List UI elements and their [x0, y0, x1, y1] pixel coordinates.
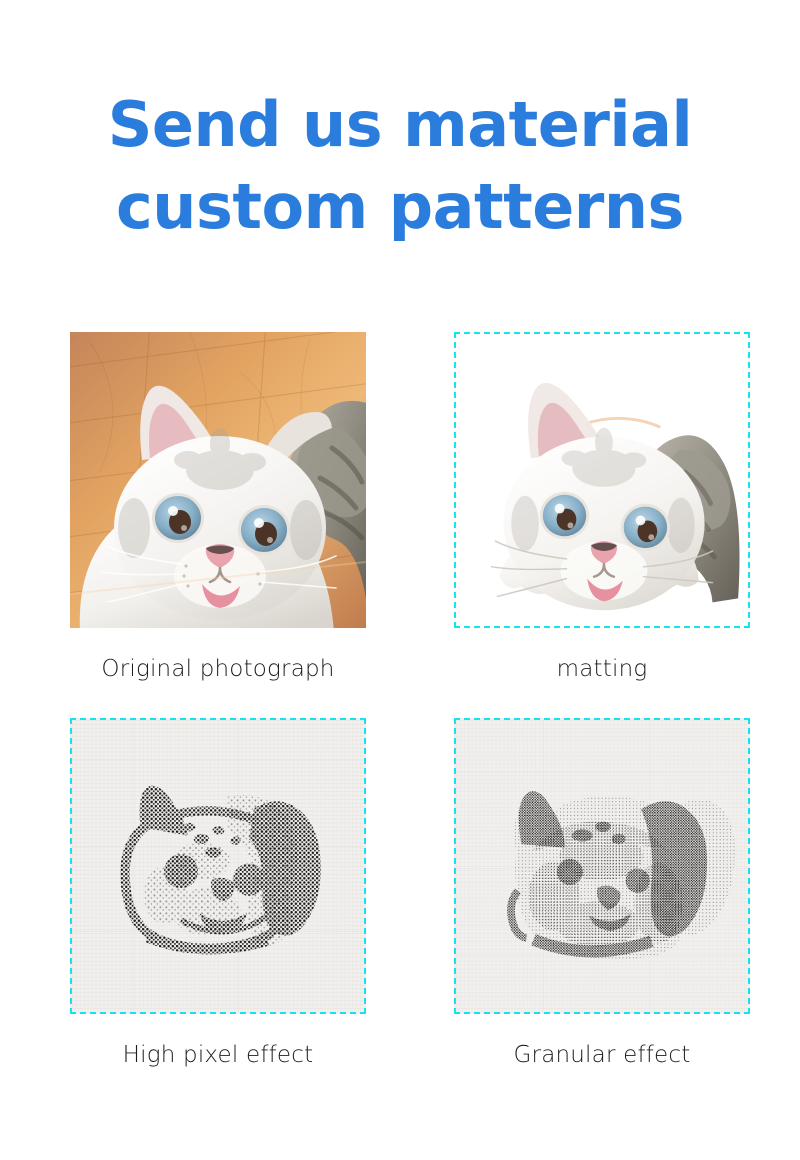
- sample-caption-original-photograph: Original photograph: [70, 654, 366, 684]
- sample-image-high-pixel-effect[interactable]: [70, 718, 366, 1014]
- sample-image-granular-effect[interactable]: [454, 718, 750, 1014]
- sample-matting[interactable]: matting: [454, 332, 750, 684]
- sample-image-original-photograph[interactable]: [70, 332, 366, 628]
- promo-page: Send us material custom patterns: [0, 0, 800, 1160]
- page-title: Send us material custom patterns: [0, 84, 800, 248]
- page-title-line-1: Send us material: [0, 84, 800, 166]
- sample-caption-granular-effect: Granular effect: [454, 1040, 750, 1070]
- sample-caption-high-pixel-effect: High pixel effect: [70, 1040, 366, 1070]
- cat-photo-illustration: [70, 332, 366, 628]
- sample-caption-matting: matting: [454, 654, 750, 684]
- sample-granular-effect[interactable]: Granular effect: [454, 718, 750, 1070]
- cat-coarse-halftone-illustration: [72, 720, 364, 1012]
- page-title-line-2: custom patterns: [0, 166, 800, 248]
- sample-grid: Original photograph: [70, 332, 750, 1080]
- sample-high-pixel-effect[interactable]: High pixel effect: [70, 718, 366, 1070]
- cat-fine-halftone-illustration: [456, 720, 748, 1012]
- sample-image-matting[interactable]: [454, 332, 750, 628]
- cat-cutout-illustration: [456, 334, 748, 626]
- sample-original-photograph[interactable]: Original photograph: [70, 332, 366, 684]
